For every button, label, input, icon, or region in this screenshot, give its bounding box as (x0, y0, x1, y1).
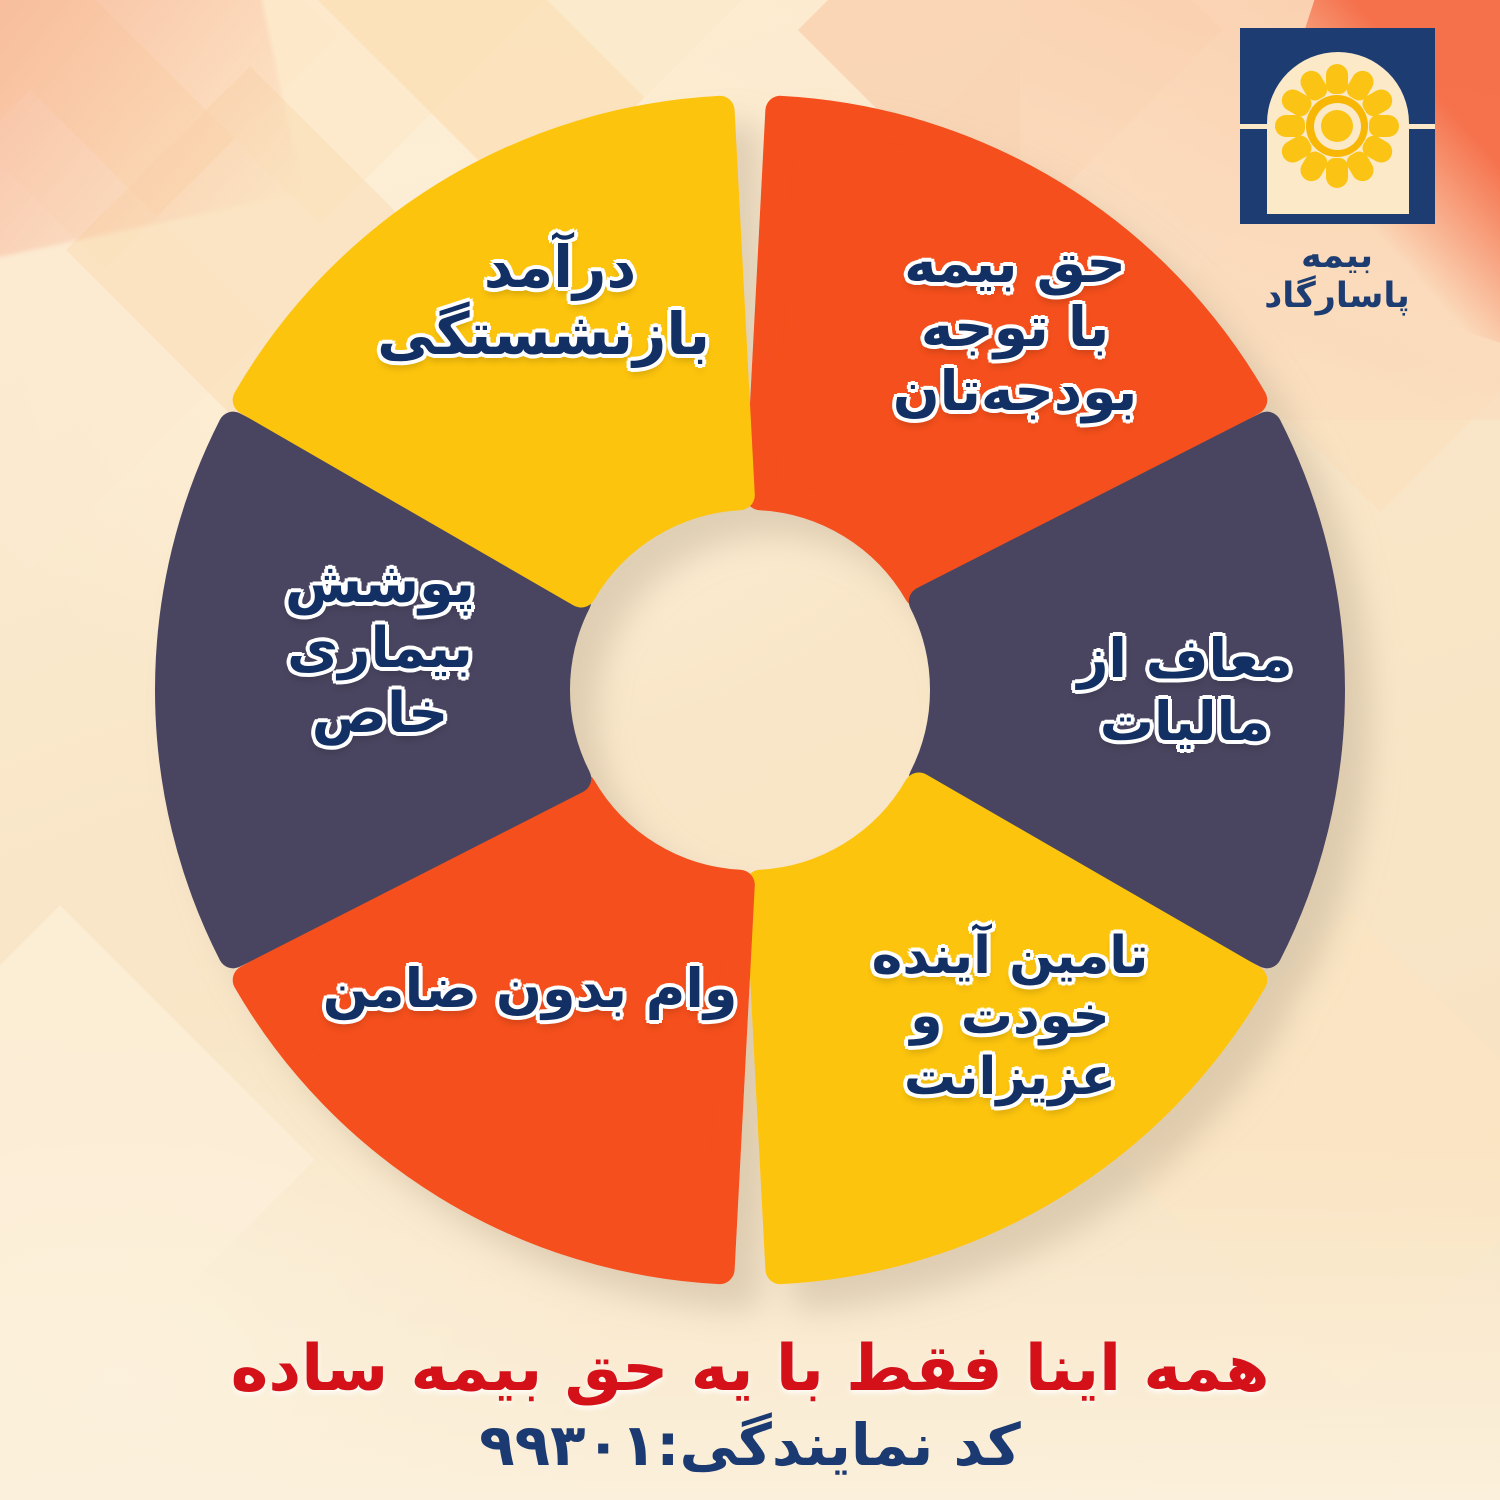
logo-notch-left (1240, 124, 1269, 129)
footer-headline: همه اینا فقط با یه حق بیمه ساده (0, 1334, 1500, 1404)
brand-logo: بیمه پاسارگاد (1232, 28, 1442, 316)
sunflower-petal (1369, 115, 1399, 137)
sunflower-icon (1273, 62, 1401, 190)
sunflower-petal (1275, 115, 1305, 137)
infographic-poster: حق بیمه با توجه بودجه‌تان معاف از مالیات… (0, 0, 1500, 1500)
sunflower-petal (1326, 158, 1348, 188)
footer: همه اینا فقط با یه حق بیمه ساده کد نماین… (0, 1334, 1500, 1478)
pasargad-logo-mark (1240, 28, 1435, 224)
logo-notch-right (1406, 124, 1435, 129)
sunflower-petal (1326, 64, 1348, 94)
footer-agency-code: کد نمایندگی:۹۹۳۰۱ (0, 1414, 1500, 1478)
brand-logo-text: بیمه پاسارگاد (1232, 236, 1442, 316)
